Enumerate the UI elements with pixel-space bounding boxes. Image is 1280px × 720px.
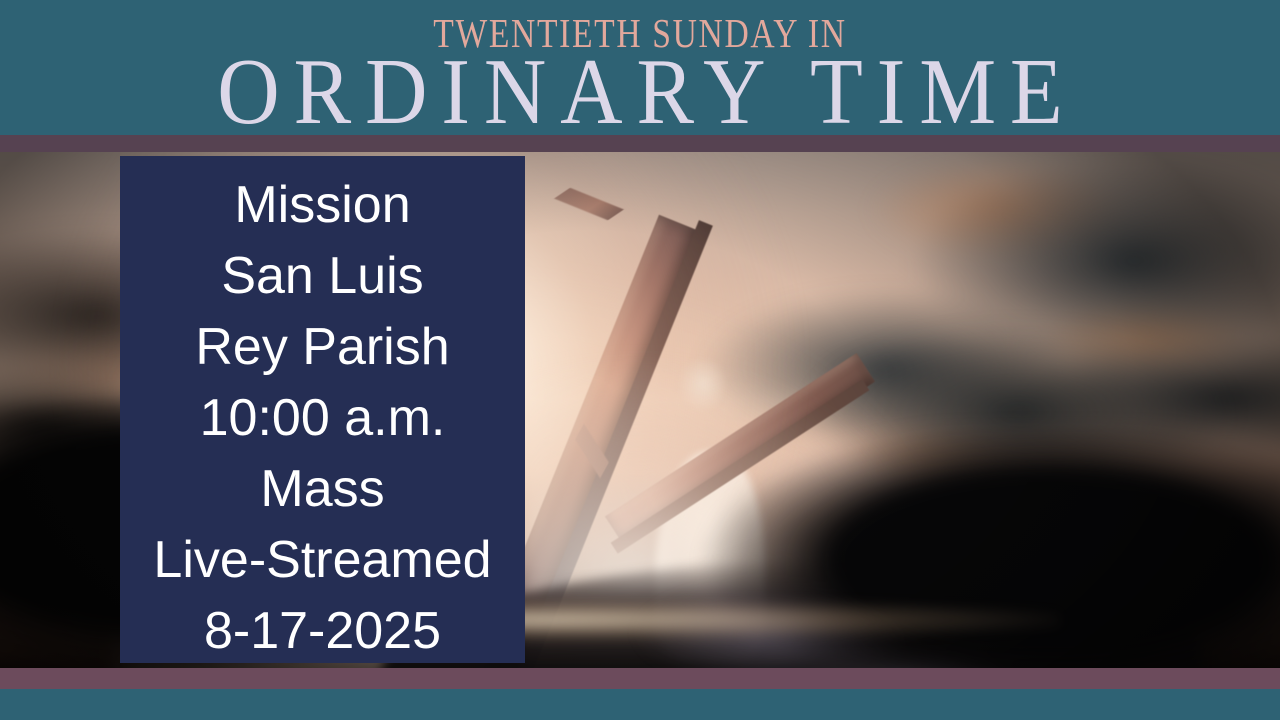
info-line-6: Live-Streamed	[153, 525, 491, 596]
slide-canvas: TWENTIETH SUNDAY IN ORDINARY TIME Missio…	[0, 0, 1280, 720]
divider-bar-top	[0, 135, 1280, 152]
info-line-2: San Luis	[221, 241, 423, 312]
info-line-4: 10:00 a.m.	[200, 383, 446, 454]
footer-band	[0, 689, 1280, 720]
season-title-text: ORDINARY TIME	[51, 44, 1229, 135]
parish-info-panel: Mission San Luis Rey Parish 10:00 a.m. M…	[120, 156, 525, 663]
divider-bar-bottom	[0, 668, 1280, 689]
info-line-1: Mission	[234, 170, 410, 241]
header-band: TWENTIETH SUNDAY IN ORDINARY TIME	[0, 0, 1280, 135]
info-line-5: Mass	[260, 454, 384, 525]
info-line-7: 8-17-2025	[204, 596, 441, 667]
info-line-3: Rey Parish	[195, 312, 449, 383]
